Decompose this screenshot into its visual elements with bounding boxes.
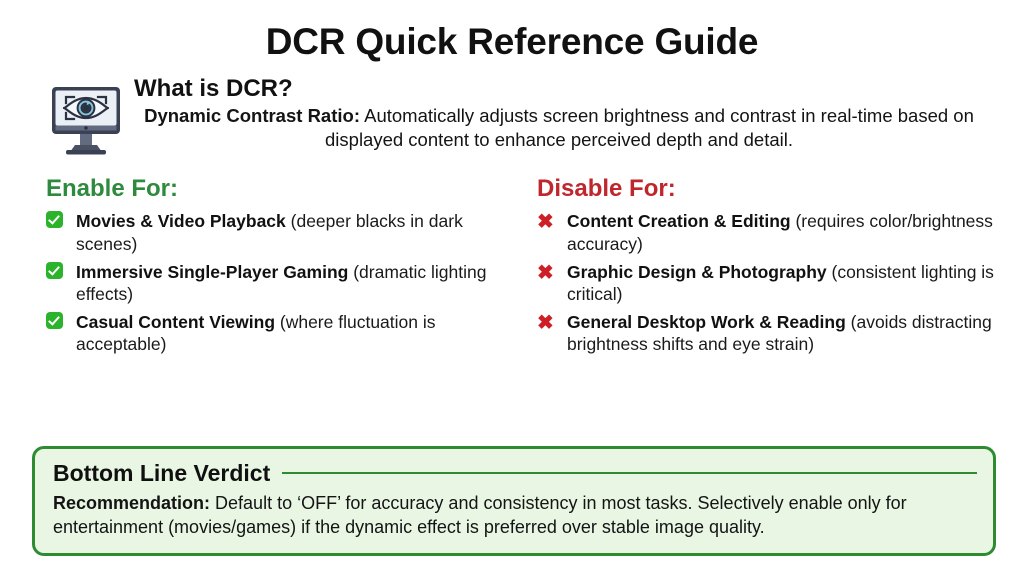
monitor-eye-icon [44,82,128,160]
list-item-label: Content Creation & Editing [567,211,791,231]
list-item: Casual Content Viewing (where fluctuatio… [46,311,507,355]
list-item-text: Movies & Video Playback (deeper blacks i… [76,210,507,254]
red-x-icon: ✖ [537,312,561,334]
list-item-text: General Desktop Work & Reading (avoids d… [567,311,998,355]
intro-section: What is DCR? Dynamic Contrast Ratio: Aut… [0,62,1024,160]
intro-term: Dynamic Contrast Ratio: [144,105,360,126]
list-item-label: Immersive Single-Player Gaming [76,262,348,282]
enable-list: Movies & Video Playback (deeper blacks i… [46,210,507,355]
list-item-text: Casual Content Viewing (where fluctuatio… [76,311,507,355]
green-check-icon [46,312,70,334]
green-check-icon [46,211,70,233]
list-item: Movies & Video Playback (deeper blacks i… [46,210,507,254]
disable-column: Disable For: ✖ Content Creation & Editin… [525,176,998,362]
red-x-icon: ✖ [537,211,561,233]
enable-heading: Enable For: [46,176,507,202]
intro-heading: What is DCR? [134,76,990,102]
intro-definition: Automatically adjusts screen brightness … [325,105,974,150]
verdict-box: Bottom Line Verdict Recommendation: Defa… [32,446,996,556]
list-item: ✖ Graphic Design & Photography (consiste… [537,261,998,305]
red-x-icon: ✖ [537,262,561,284]
list-item-label: Graphic Design & Photography [567,262,827,282]
list-item: ✖ Content Creation & Editing (requires c… [537,210,998,254]
list-item-text: Content Creation & Editing (requires col… [567,210,998,254]
recommendation-columns: Enable For: Movies & Video Playback (dee… [0,160,1024,362]
disable-list: ✖ Content Creation & Editing (requires c… [537,210,998,355]
page-title: DCR Quick Reference Guide [0,0,1024,62]
intro-text: What is DCR? Dynamic Contrast Ratio: Aut… [128,76,990,152]
list-item: Immersive Single-Player Gaming (dramatic… [46,261,507,305]
green-check-icon [46,262,70,284]
list-item-label: Casual Content Viewing [76,312,275,332]
list-item-text: Graphic Design & Photography (consistent… [567,261,998,305]
list-item-text: Immersive Single-Player Gaming (dramatic… [76,261,507,305]
list-item-label: General Desktop Work & Reading [567,312,846,332]
intro-body: Dynamic Contrast Ratio: Automatically ad… [134,104,990,151]
verdict-body: Recommendation: Default to ‘OFF’ for acc… [53,492,977,540]
list-item: ✖ General Desktop Work & Reading (avoids… [537,311,998,355]
verdict-header: Bottom Line Verdict [53,460,977,486]
verdict-divider [282,472,977,475]
disable-heading: Disable For: [537,176,998,202]
list-item-label: Movies & Video Playback [76,211,286,231]
verdict-title: Bottom Line Verdict [53,460,270,486]
enable-column: Enable For: Movies & Video Playback (dee… [46,176,507,362]
verdict-label: Recommendation: [53,493,210,513]
